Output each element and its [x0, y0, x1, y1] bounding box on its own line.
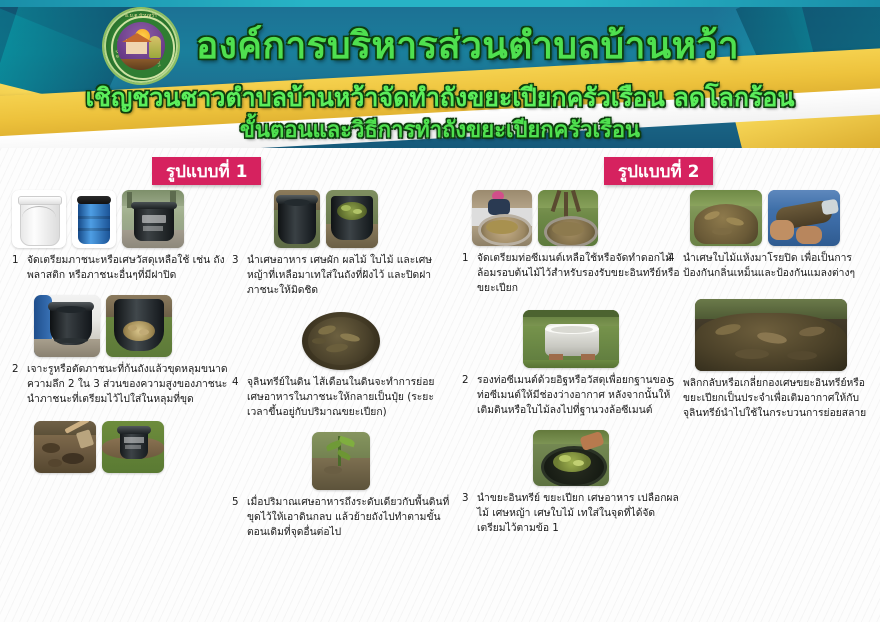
step-1-4-text: จุลินทรีย์ในดิน ไส้เดือนในดินจะทำการย่อย… — [247, 375, 450, 420]
step-2-5: 5 พลิกกลับหรือเกลี่ยกองเศษขยะอินทรีย์หรื… — [668, 299, 874, 421]
step-1-5-text: เมื่อปริมาณเศษอาหารถึงระดับเดียวกับพื้นด… — [247, 495, 450, 540]
step-1-5-text-row: 5 เมื่อปริมาณเศษอาหารถึงระดับเดียวกับพื้… — [232, 495, 450, 540]
section-banner-2: รูปแบบที่ 2 — [604, 157, 713, 185]
white-plastic-bucket-image — [12, 190, 66, 248]
step-1-2-text: เจาะรูหรือตัดภาชนะที่ก้นถังแล้วขุดหลุมขน… — [27, 362, 230, 407]
column-section2-left: 1 จัดเตรียมท่อซีเมนต์เหลือใช้หรือจัดทำดอ… — [462, 190, 680, 542]
column-section1-left: 1 จัดเตรียมภาชนะหรือเศษวัสดุเหลือใช้ เช่… — [12, 190, 230, 479]
step-1-5-images — [12, 421, 230, 473]
bin-buried-in-ground-image — [274, 190, 320, 248]
step-2-1-text-row: 1 จัดเตรียมท่อซีเมนต์เหลือใช้หรือจัดทำดอ… — [462, 251, 680, 296]
step-2-2-number: 2 — [462, 373, 477, 418]
step-1-3-text-row: 3 นำเศษอาหาร เศษผัก ผลไม้ ใบไม้ และเศษหญ… — [232, 253, 450, 298]
column-section2-right: 4 นำเศษใบไม้แห้งมาโรยปิด เพื่อเป็นการป้อ… — [668, 190, 874, 427]
header-top-bar — [0, 0, 880, 7]
ground-band — [117, 59, 165, 70]
bin-bottom-hole-view-image — [106, 295, 172, 357]
step-2-4-text-row: 4 นำเศษใบไม้แห้งมาโรยปิด เพื่อเป็นการป้อ… — [668, 251, 874, 281]
digging-soil-shovel-image — [34, 421, 96, 473]
food-waste-in-bin-image — [326, 190, 378, 248]
step-1-1: 1 จัดเตรียมภาชนะหรือเศษวัสดุเหลือใช้ เช่… — [12, 190, 230, 283]
step-2-3-text: นำขยะอินทรีย์ ขยะเปียก เศษอาหาร เปลือกผล… — [477, 491, 680, 536]
step-1-2-images — [12, 295, 230, 357]
step-1-3-number: 3 — [232, 253, 247, 298]
tree-ring-with-leaves-image — [538, 190, 598, 246]
step-1-3-images — [232, 190, 450, 248]
step-2-4-number: 4 — [668, 251, 683, 281]
step-2-5-text-row: 5 พลิกกลับหรือเกลี่ยกองเศษขยะอินทรีย์หรื… — [668, 376, 874, 421]
step-2-2-images — [462, 310, 680, 368]
blue-plastic-barrel-image — [72, 190, 116, 248]
step-1-1-images — [12, 190, 230, 248]
black-bin-outdoors-image — [122, 190, 184, 248]
step-1-1-text-row: 1 จัดเตรียมภาชนะหรือเศษวัสดุเหลือใช้ เช่… — [12, 253, 230, 283]
step-2-2-text: รองท่อซีเมนต์ด้วยอิฐหรือวัสดุเพื่อยกฐานข… — [477, 373, 680, 418]
pouring-organic-waste-into-ring-image — [533, 430, 609, 486]
step-2-3-text-row: 3 นำขยะอินทรีย์ ขยะเปียก เศษอาหาร เปลือก… — [462, 491, 680, 536]
plant-sprout-in-soil-image — [312, 432, 370, 490]
bin-placed-in-hole-grass-image — [102, 421, 164, 473]
step-2-5-text: พลิกกลับหรือเกลี่ยกองเศษขยะอินทรีย์หรือข… — [683, 376, 874, 421]
page-title: องค์การบริหารส่วนตำบลบ้านหว้า — [196, 18, 856, 72]
step-2-4-images — [668, 190, 874, 246]
seal-top-text: อ.บ.ต.บ้านหว้า — [125, 12, 157, 19]
step-1-2-text-row: 2 เจาะรูหรือตัดภาชนะที่ก้นถังแล้วขุดหลุม… — [12, 362, 230, 407]
step-2-1: 1 จัดเตรียมท่อซีเมนต์เหลือใช้หรือจัดทำดอ… — [462, 190, 680, 296]
seal-inner-emblem — [117, 22, 165, 70]
step-2-3-images — [462, 430, 680, 486]
step-1-4-text-row: 4 จุลินทรีย์ในดิน ไส้เดือนในดินจะทำการย่… — [232, 375, 450, 420]
step-2-2-text-row: 2 รองท่อซีเมนต์ด้วยอิฐหรือวัสดุเพื่อยกฐา… — [462, 373, 680, 418]
step-1-3-text: นำเศษอาหาร เศษผัก ผลไม้ ใบไม้ และเศษหญ้า… — [247, 253, 450, 298]
step-1-4-images — [232, 312, 450, 370]
step-2-2: 2 รองท่อซีเมนต์ด้วยอิฐหรือวัสดุเพื่อยกฐา… — [462, 310, 680, 418]
step-1-4: 4 จุลินทรีย์ในดิน ไส้เดือนในดินจะทำการย่… — [232, 312, 450, 420]
step-2-3: 3 นำขยะอินทรีย์ ขยะเปียก เศษอาหาร เปลือก… — [462, 430, 680, 536]
black-bin-cut-bottom-image — [34, 295, 100, 357]
step-2-4: 4 นำเศษใบไม้แห้งมาโรยปิด เพื่อเป็นการป้อ… — [668, 190, 874, 281]
section-banner-1: รูปแบบที่ 1 — [152, 157, 261, 185]
step-1-5: 5 เมื่อปริมาณเศษอาหารถึงระดับเดียวกับพื้… — [232, 432, 450, 540]
step-1-5-number: 5 — [232, 495, 247, 540]
step-1-3: 3 นำเศษอาหาร เศษผัก ผลไม้ ใบไม้ และเศษหญ… — [232, 190, 450, 298]
hands-holding-bottle-compost-image — [768, 190, 840, 246]
step-2-3-number: 3 — [462, 491, 477, 536]
step-1-4-number: 4 — [232, 375, 247, 420]
turning-compost-pile-image — [695, 299, 847, 371]
organization-seal-logo: อ.บ.ต.บ้านหว้า อ.บ้านเมือง จ.พระนครศรีอย… — [104, 9, 178, 83]
person-filling-cement-ring-image — [472, 190, 532, 246]
poster-canvas: อ.บ.ต.บ้านหว้า อ.บ้านเมือง จ.พระนครศรีอย… — [0, 0, 880, 622]
header-subtitle-2: ขั้นตอนและวิธีการทำถังขยะเปียกครัวเรือน — [0, 112, 880, 147]
step-2-4-text: นำเศษใบไม้แห้งมาโรยปิด เพื่อเป็นการป้องก… — [683, 251, 874, 281]
step-2-5-images — [668, 299, 874, 371]
step-1-1-text: จัดเตรียมภาชนะหรือเศษวัสดุเหลือใช้ เช่น … — [27, 253, 230, 283]
column-section1-right: 3 นำเศษอาหาร เศษผัก ผลไม้ ใบไม้ และเศษหญ… — [232, 190, 450, 546]
step-1-1-number: 1 — [12, 253, 27, 283]
step-1-5-image-row — [232, 432, 450, 490]
step-2-1-text: จัดเตรียมท่อซีเมนต์เหลือใช้หรือจัดทำดอกไ… — [477, 251, 680, 296]
house-roof-icon — [122, 33, 152, 42]
cement-ring-on-bricks-image — [523, 310, 619, 368]
compost-decomposing-in-bin-image — [302, 312, 380, 370]
pile-of-dry-leaves-image — [690, 190, 762, 246]
step-1-2-number: 2 — [12, 362, 27, 407]
step-2-5-number: 5 — [668, 376, 683, 421]
step-2-1-images — [462, 190, 680, 246]
step-2-1-number: 1 — [462, 251, 477, 296]
step-1-2: 2 เจาะรูหรือตัดภาชนะที่ก้นถังแล้วขุดหลุม… — [12, 295, 230, 407]
step-1-2-extra-images — [12, 421, 230, 473]
